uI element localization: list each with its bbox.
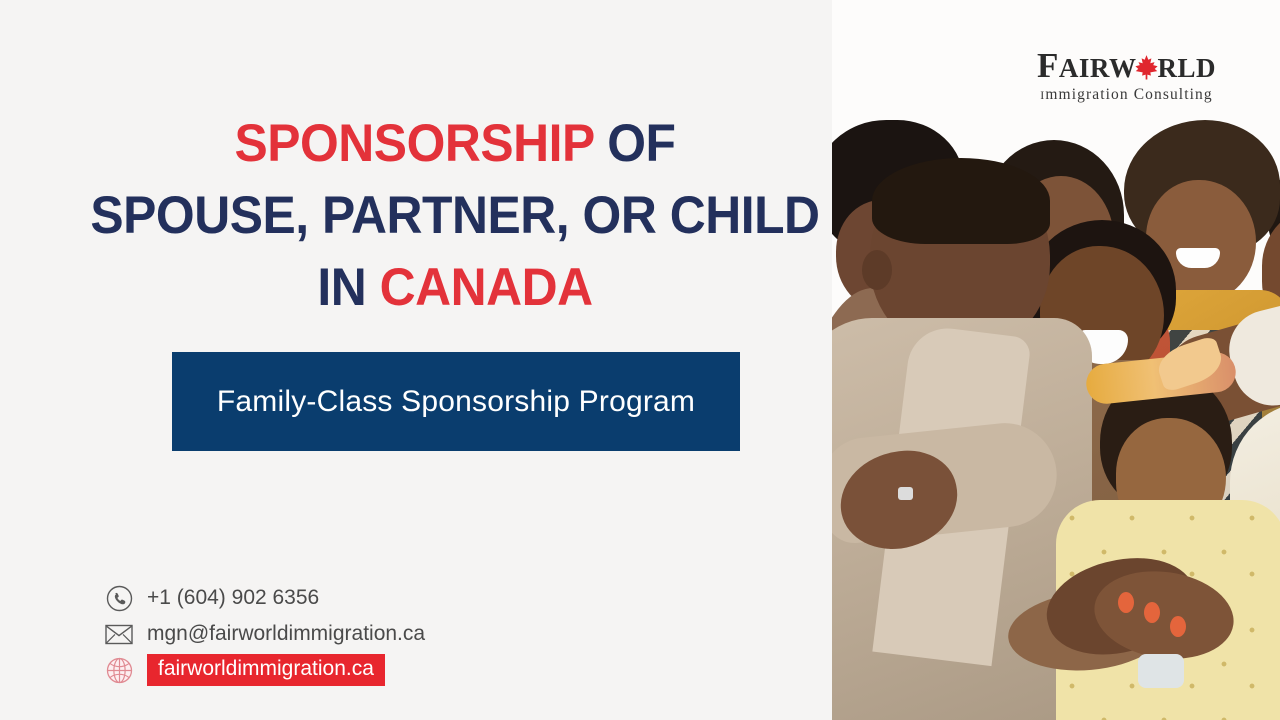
brand-tagline-rest: mmigration Consulting [1045,86,1212,103]
contact-block: +1 (604) 902 6356 mgn@fairworldimmigrati… [104,580,425,688]
family-group-hug-photo [832,0,1280,720]
program-banner-label: Family-Class Sponsorship Program [217,385,695,419]
headline-line-2: SPOUSE, PARTNER, OR CHILD [27,180,882,252]
headline-line-3: IN CANADA [27,252,882,324]
poster-canvas: FAIRWRLD Immigration Consulting SPONSORS… [0,0,1280,720]
page-title: SPONSORSHIP OF SPOUSE, PARTNER, OR CHILD… [0,108,910,324]
photo-composition [832,0,1280,720]
brand-logo[interactable]: FAIRWRLD Immigration Consulting [1037,48,1216,104]
brand-wordmark-part3: RLD [1157,55,1216,82]
headline-of: OF [607,114,675,173]
envelope-icon [104,619,134,649]
brand-wordmark-part1: F [1037,48,1059,83]
email-address: mgn@fairworldimmigration.ca [147,622,425,646]
contact-row-email[interactable]: mgn@fairworldimmigration.ca [104,616,425,652]
program-banner: Family-Class Sponsorship Program [172,352,740,451]
brand-tagline: Immigration Consulting [1037,86,1216,104]
contact-row-phone[interactable]: +1 (604) 902 6356 [104,580,425,616]
contact-row-website[interactable]: fairworldimmigration.ca [104,652,425,688]
maple-leaf-icon [1135,54,1158,80]
headline-canada: CANADA [380,258,593,317]
globe-icon [104,655,134,685]
website-url[interactable]: fairworldimmigration.ca [147,654,385,685]
phone-number: +1 (604) 902 6356 [147,586,319,610]
brand-wordmark-part2: AIRW [1059,55,1137,82]
phone-icon [104,583,134,613]
headline-line-1: SPONSORSHIP OF [27,108,882,180]
brand-wordmark: FAIRWRLD [1037,48,1216,83]
headline-sponsorship: SPONSORSHIP [234,114,593,173]
headline-in: IN [317,258,366,317]
